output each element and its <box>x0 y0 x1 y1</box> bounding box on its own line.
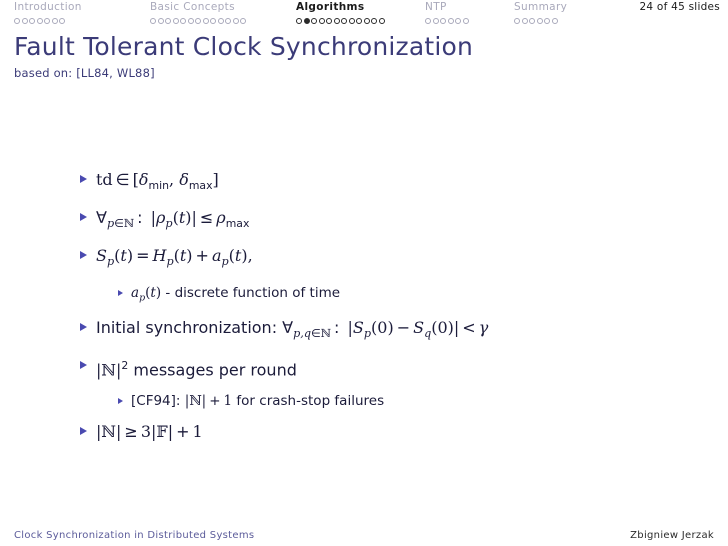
title-block: Fault Tolerant Clock Synchronization bas… <box>14 32 473 80</box>
nav-dot[interactable] <box>225 18 231 24</box>
list-item-text: Initial synchronization: ∀p,q∈ℕ: |Sp(0)−… <box>96 318 488 343</box>
nav-section-dots[interactable] <box>14 18 65 24</box>
nav-dot[interactable] <box>296 18 302 24</box>
bullet-triangle-icon <box>80 251 87 259</box>
nav-section-label: NTP <box>425 1 447 14</box>
nav-dot[interactable] <box>210 18 216 24</box>
nav-dot[interactable] <box>203 18 209 24</box>
nav-dot[interactable] <box>455 18 461 24</box>
bullet-triangle-icon <box>80 427 87 435</box>
nav-dot[interactable] <box>319 18 325 24</box>
footer-presentation-title: Clock Synchronization in Distributed Sys… <box>14 530 254 541</box>
slide-navigation-bar: Introduction Basic Concepts Algorithms N… <box>0 0 728 28</box>
list-item: td∈[δmin, δmax] <box>0 170 728 195</box>
nav-dot[interactable] <box>173 18 179 24</box>
nav-section-summary[interactable]: Summary <box>514 1 567 24</box>
nav-dot[interactable] <box>188 18 194 24</box>
footer-author-name: Zbigniew Jerzak <box>630 530 714 541</box>
nav-dot[interactable] <box>529 18 535 24</box>
nav-dot[interactable] <box>433 18 439 24</box>
bullet-triangle-icon <box>80 175 87 183</box>
nav-section-dots[interactable] <box>296 18 385 24</box>
nav-dot[interactable] <box>158 18 164 24</box>
list-item-text: |ℕ|2 messages per round <box>96 356 297 379</box>
nav-dot[interactable] <box>311 18 317 24</box>
nav-dot[interactable] <box>218 18 224 24</box>
list-item-text: [CF94]: |ℕ|+1 for crash-stop failures <box>131 393 384 410</box>
nav-section-dots[interactable] <box>150 18 246 24</box>
nav-dot[interactable] <box>448 18 454 24</box>
nav-dot[interactable] <box>334 18 340 24</box>
page-title: Fault Tolerant Clock Synchronization <box>14 32 473 62</box>
nav-dot[interactable] <box>304 18 310 24</box>
nav-dot[interactable] <box>514 18 520 24</box>
nav-dot[interactable] <box>364 18 370 24</box>
nav-section-basic-concepts[interactable]: Basic Concepts <box>150 1 246 24</box>
presentation-slide: Introduction Basic Concepts Algorithms N… <box>0 0 728 546</box>
list-item: Sp(t)=Hp(t)+ap(t), <box>0 246 728 271</box>
nav-dot[interactable] <box>59 18 65 24</box>
nav-dot[interactable] <box>341 18 347 24</box>
list-item-text: Sp(t)=Hp(t)+ap(t), <box>96 246 253 271</box>
list-item: |ℕ|2 messages per round <box>0 356 728 379</box>
nav-dot[interactable] <box>356 18 362 24</box>
nav-dot[interactable] <box>240 18 246 24</box>
nav-dot[interactable] <box>29 18 35 24</box>
nav-section-label: Algorithms <box>296 1 364 14</box>
nav-dot[interactable] <box>14 18 20 24</box>
list-item: ∀p∈ℕ: |ρp(t)|≤ρmax <box>0 208 728 233</box>
bullet-triangle-icon <box>118 290 123 296</box>
bullet-triangle-icon <box>80 361 87 369</box>
nav-dot[interactable] <box>349 18 355 24</box>
list-item-text: |ℕ|≥3|𝔽|+1 <box>96 422 203 441</box>
nav-dot[interactable] <box>544 18 550 24</box>
bullet-triangle-icon <box>80 213 87 221</box>
bullet-triangle-icon <box>118 398 123 404</box>
list-item: [CF94]: |ℕ|+1 for crash-stop failures <box>0 393 728 410</box>
nav-dot[interactable] <box>52 18 58 24</box>
nav-dot[interactable] <box>379 18 385 24</box>
nav-section-dots[interactable] <box>514 18 558 24</box>
nav-dot[interactable] <box>463 18 469 24</box>
list-item: Initial synchronization: ∀p,q∈ℕ: |Sp(0)−… <box>0 318 728 343</box>
nav-dot[interactable] <box>150 18 156 24</box>
list-item-text: ap(t) - discrete function of time <box>131 285 340 307</box>
list-item-text: td∈[δmin, δmax] <box>96 170 219 195</box>
nav-dot[interactable] <box>425 18 431 24</box>
nav-section-label: Introduction <box>14 1 82 14</box>
nav-dot[interactable] <box>552 18 558 24</box>
nav-dot[interactable] <box>195 18 201 24</box>
nav-dot[interactable] <box>165 18 171 24</box>
nav-dot[interactable] <box>37 18 43 24</box>
page-subtitle: based on: [LL84, WL88] <box>14 66 473 80</box>
nav-dot[interactable] <box>326 18 332 24</box>
nav-section-label: Basic Concepts <box>150 1 235 14</box>
nav-dot[interactable] <box>371 18 377 24</box>
list-item: |ℕ|≥3|𝔽|+1 <box>0 422 728 441</box>
bullet-triangle-icon <box>80 323 87 331</box>
nav-dot[interactable] <box>522 18 528 24</box>
nav-section-dots[interactable] <box>425 18 469 24</box>
list-item: ap(t) - discrete function of time <box>0 285 728 307</box>
nav-dot[interactable] <box>44 18 50 24</box>
slide-footer: Clock Synchronization in Distributed Sys… <box>0 530 728 541</box>
content-list: td∈[δmin, δmax] ∀p∈ℕ: |ρp(t)|≤ρmax Sp(t)… <box>0 170 728 454</box>
nav-section-ntp[interactable]: NTP <box>425 1 469 24</box>
nav-dot[interactable] <box>537 18 543 24</box>
nav-section-algorithms[interactable]: Algorithms <box>296 1 385 24</box>
nav-dot[interactable] <box>180 18 186 24</box>
nav-dot[interactable] <box>440 18 446 24</box>
nav-section-label: Summary <box>514 1 567 14</box>
slide-counter: 24 of 45 slides <box>639 1 720 13</box>
nav-section-introduction[interactable]: Introduction <box>14 1 82 24</box>
nav-dot[interactable] <box>22 18 28 24</box>
list-item-text: ∀p∈ℕ: |ρp(t)|≤ρmax <box>96 208 249 233</box>
nav-dot[interactable] <box>233 18 239 24</box>
